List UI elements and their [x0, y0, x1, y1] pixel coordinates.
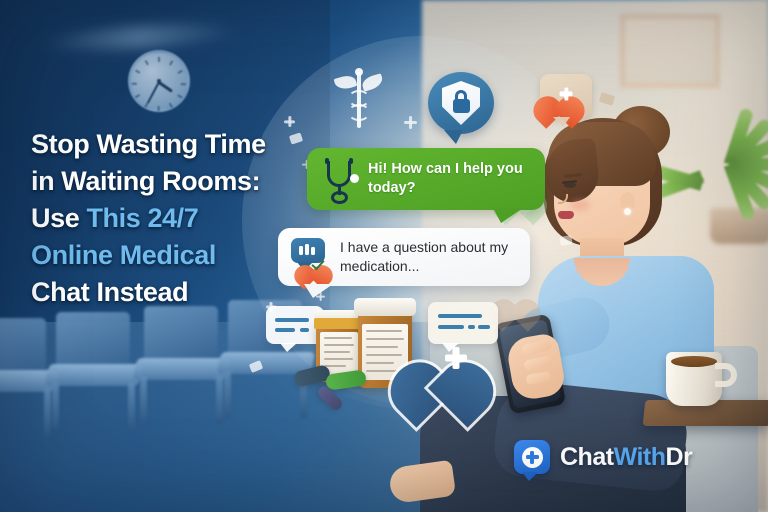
headline-line-5: Chat Instead	[31, 274, 293, 311]
chat-heart-icon	[289, 236, 333, 278]
patient-message-text: I have a question about my medication...	[340, 238, 530, 276]
heart-cross-icon	[552, 83, 580, 109]
soft-heart-decor	[508, 286, 536, 312]
shield-lock-icon	[442, 81, 480, 125]
stethoscope-icon	[320, 157, 360, 201]
security-bubble	[428, 72, 494, 134]
coffee-mug	[666, 352, 722, 406]
headline-line-2: in Waiting Rooms:	[31, 163, 293, 200]
headline-line-4: Online Medical	[31, 237, 293, 274]
brand-logo-text: ChatWithDr	[560, 443, 692, 472]
promo-banner: Hi! How can I help you today? I have a q…	[0, 0, 768, 512]
headline-line-3-pre: Use	[31, 203, 86, 233]
page-title: Stop Wasting Time in Waiting Rooms: Use …	[31, 126, 293, 311]
logo-word-chat: Chat	[560, 443, 614, 471]
brand-logo[interactable]: ChatWithDr	[514, 440, 692, 474]
caduceus-icon	[336, 68, 382, 130]
cross-confetti	[404, 116, 417, 129]
doctor-chat-bubble[interactable]: Hi! How can I help you today?	[307, 148, 545, 210]
logo-word-dr: Dr	[665, 443, 692, 471]
logo-word-with: With	[614, 443, 666, 471]
medicine-cluster	[300, 300, 500, 405]
care-bubble	[540, 74, 592, 118]
doctor-message-text: Hi! How can I help you today?	[368, 160, 545, 198]
headline-line-3: Use This 24/7	[31, 200, 293, 237]
headline-line-1: Stop Wasting Time	[31, 126, 293, 163]
chat-plus-icon	[514, 440, 550, 474]
patient-chat-bubble[interactable]: I have a question about my medication...	[278, 228, 530, 286]
heart-medical-icon	[428, 336, 484, 388]
wall-clock	[128, 50, 190, 112]
headline-line-3-accent: This 24/7	[86, 203, 198, 233]
